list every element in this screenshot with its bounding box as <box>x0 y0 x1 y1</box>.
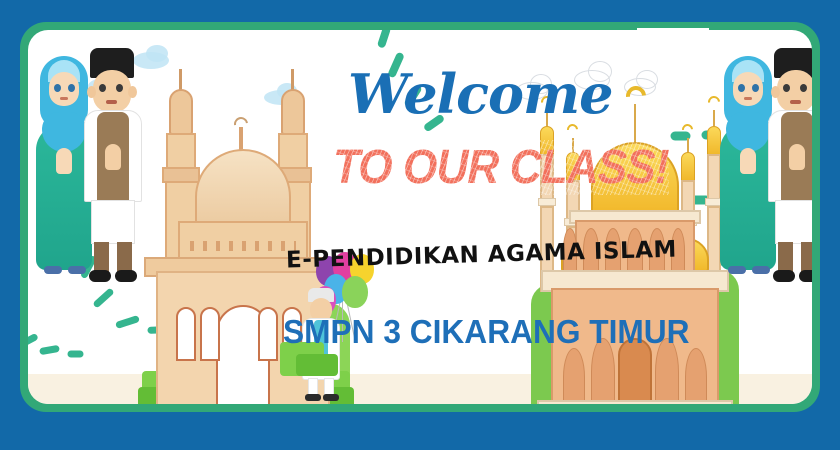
class-headline: TO OUR CLASS! <box>333 140 669 195</box>
eye <box>738 84 745 92</box>
ear <box>771 86 780 98</box>
balloon <box>342 276 368 308</box>
mouth <box>106 100 117 104</box>
minaret-needle <box>179 69 182 91</box>
minaret-needle <box>291 69 294 91</box>
minaret-shaft <box>278 133 308 171</box>
shoe <box>115 270 137 282</box>
eye <box>800 84 807 92</box>
mosque-arch <box>563 348 585 404</box>
mosque-window <box>200 307 220 361</box>
minaret-needle <box>713 110 715 126</box>
trousers <box>91 200 135 244</box>
crescent-icon <box>680 122 695 137</box>
dash-decor <box>39 345 60 355</box>
welcome-headline: Welcome <box>348 62 613 126</box>
minaret-cap <box>281 89 305 135</box>
welcome-banner: freepik Welcome TO OUR CLASS! E-PENDIDIK… <box>0 0 840 450</box>
minaret-shaft <box>166 133 196 171</box>
eye <box>116 84 123 92</box>
eye <box>752 84 759 92</box>
shoe <box>728 266 746 274</box>
mosque-step <box>537 400 733 404</box>
eye <box>99 84 106 92</box>
dash-decor <box>28 333 39 350</box>
face <box>777 70 812 112</box>
shoe <box>305 394 321 401</box>
mosque-window <box>176 307 196 361</box>
ear <box>87 86 96 98</box>
hands-greeting <box>105 144 121 170</box>
dome-spire <box>634 104 636 144</box>
mouth <box>60 97 68 100</box>
school-name-text: SMPN 3 CIKARANG TIMUR <box>283 313 690 351</box>
hands-greeting <box>56 148 72 174</box>
grass-patch <box>296 354 338 376</box>
face <box>93 70 131 112</box>
facade-ornament <box>190 241 296 251</box>
dash-decor <box>92 287 115 308</box>
dash-decor <box>115 315 140 329</box>
hands-greeting <box>789 144 805 170</box>
dash-decor <box>68 351 84 358</box>
shoe <box>89 270 111 282</box>
mosque-window <box>258 307 278 361</box>
minaret-cap <box>169 89 193 135</box>
hands-greeting <box>740 148 756 174</box>
eye <box>68 84 75 92</box>
minaret-ring <box>538 198 556 206</box>
right-boy-figure <box>760 48 812 284</box>
left-boy-figure <box>76 48 152 284</box>
trousers <box>775 200 812 244</box>
shoe <box>773 270 795 282</box>
minaret-cap <box>681 152 695 182</box>
mouth <box>744 97 752 100</box>
shoe <box>323 394 339 401</box>
shoe <box>44 266 62 274</box>
mosque-arch <box>685 348 707 404</box>
ear <box>128 86 137 98</box>
white-overlap-patch <box>519 30 681 38</box>
dash-decor <box>377 30 391 49</box>
eye <box>54 84 61 92</box>
crescent-icon <box>622 82 650 110</box>
eye <box>783 84 790 92</box>
shoe <box>799 270 812 282</box>
mouth <box>790 100 801 104</box>
